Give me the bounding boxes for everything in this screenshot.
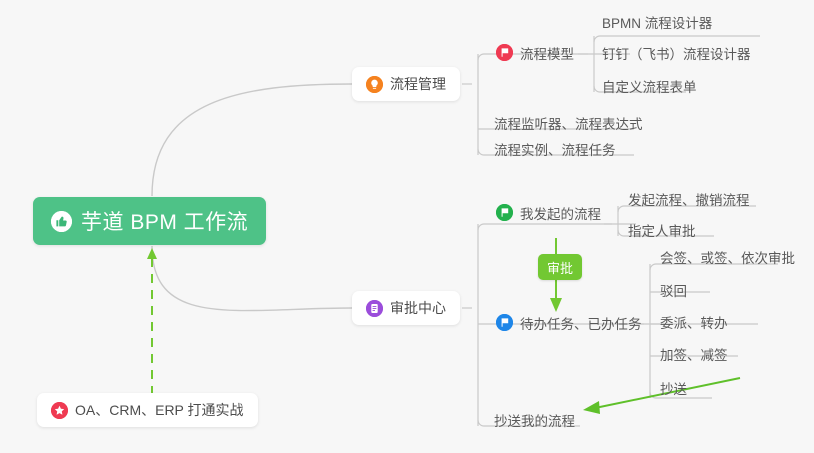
node-process-model[interactable]: 流程模型 <box>490 41 580 67</box>
leaf-assignee-approval[interactable]: 指定人审批 <box>622 218 702 244</box>
node-instance-task[interactable]: 流程实例、流程任务 <box>488 137 622 163</box>
leaf-dingtalk-designer[interactable]: 钉钉（飞书）流程设计器 <box>596 41 757 67</box>
leaf-initiate-revoke[interactable]: 发起流程、撤销流程 <box>622 187 756 213</box>
root-node[interactable]: 芋道 BPM 工作流 <box>33 197 266 245</box>
callout-label: OA、CRM、ERP 打通实战 <box>75 400 244 420</box>
leaf-label: 钉钉（飞书）流程设计器 <box>602 43 751 63</box>
branch-label: 流程管理 <box>390 74 446 94</box>
node-label: 我发起的流程 <box>520 203 601 223</box>
leaf-label: 驳回 <box>660 280 687 300</box>
star-icon <box>51 402 68 419</box>
root-label: 芋道 BPM 工作流 <box>81 206 248 236</box>
leaf-custom-form[interactable]: 自定义流程表单 <box>596 74 703 100</box>
leaf-bpmn-designer[interactable]: BPMN 流程设计器 <box>596 10 718 36</box>
node-todo-done-tasks[interactable]: 待办任务、已办任务 <box>490 311 648 337</box>
leaf-delegate-transfer[interactable]: 委派、转办 <box>654 310 734 336</box>
leaf-label: 发起流程、撤销流程 <box>628 189 750 209</box>
branch-label: 审批中心 <box>390 298 446 318</box>
bulb-icon <box>366 76 383 93</box>
node-label: 流程监听器、流程表达式 <box>494 113 643 133</box>
thumbs-up-icon <box>51 211 72 232</box>
leaf-label: BPMN 流程设计器 <box>602 12 712 32</box>
flag-blue-icon <box>496 314 513 331</box>
callout-arrow <box>147 248 157 395</box>
leaf-label: 抄送 <box>660 378 687 398</box>
leaf-label: 委派、转办 <box>660 312 728 332</box>
leaf-label: 指定人审批 <box>628 220 696 240</box>
node-label: 流程模型 <box>520 43 574 63</box>
leaf-reject[interactable]: 驳回 <box>654 278 693 304</box>
node-label: 待办任务、已办任务 <box>520 313 642 333</box>
node-cc-to-me[interactable]: 抄送我的流程 <box>488 408 581 434</box>
branch-node-approval-center[interactable]: 审批中心 <box>352 291 460 325</box>
leaf-label: 自定义流程表单 <box>602 76 697 96</box>
leaf-cc[interactable]: 抄送 <box>654 376 693 402</box>
leaf-label: 加签、减签 <box>660 344 728 364</box>
node-listener-expression[interactable]: 流程监听器、流程表达式 <box>488 111 649 137</box>
flag-green-icon <box>496 204 513 221</box>
approval-annotation-badge[interactable]: 审批 <box>538 254 582 280</box>
node-label: 抄送我的流程 <box>494 410 575 430</box>
flag-red-icon <box>496 44 513 61</box>
annotation-label: 审批 <box>547 258 573 277</box>
callout-node[interactable]: OA、CRM、ERP 打通实战 <box>37 393 258 427</box>
node-my-initiated[interactable]: 我发起的流程 <box>490 201 607 227</box>
doc-icon <box>366 300 383 317</box>
leaf-countersign[interactable]: 会签、或签、依次审批 <box>654 245 801 271</box>
leaf-add-remove-sign[interactable]: 加签、减签 <box>654 342 734 368</box>
node-label: 流程实例、流程任务 <box>494 139 616 159</box>
mindmap-canvas: 芋道 BPM 工作流 OA、CRM、ERP 打通实战 流程管理 <box>0 0 814 453</box>
branch-node-process-management[interactable]: 流程管理 <box>352 67 460 101</box>
leaf-label: 会签、或签、依次审批 <box>660 247 795 267</box>
